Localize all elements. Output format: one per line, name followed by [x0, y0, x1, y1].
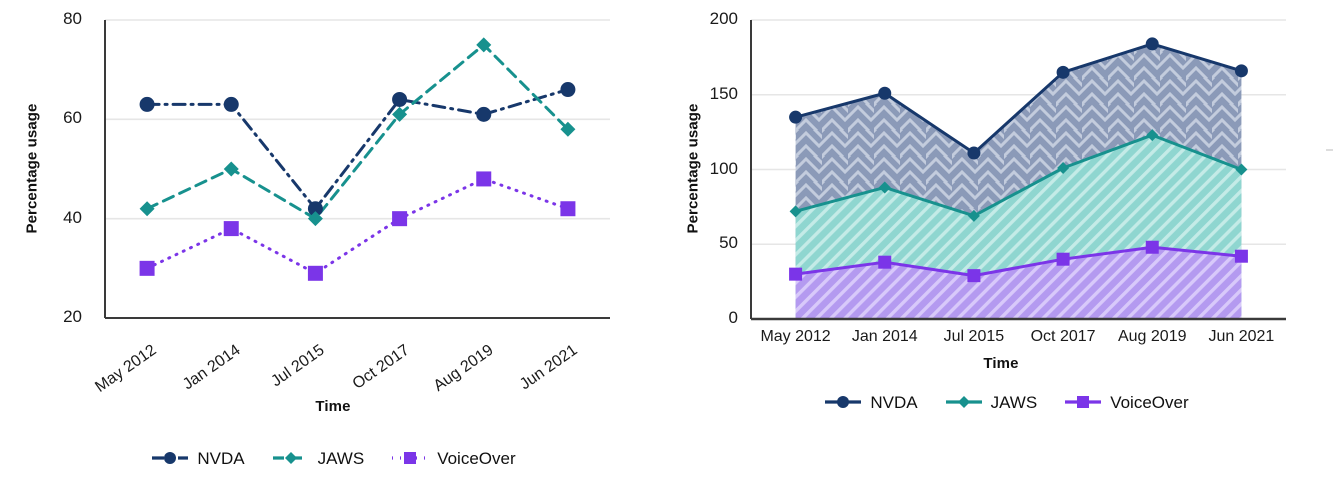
legend-label-nvda: NVDA [197, 450, 244, 467]
data-point-voiceover-2 [308, 266, 323, 281]
data-point-voiceover-1 [878, 256, 891, 269]
data-point-nvda-1 [224, 97, 239, 112]
legend-swatch-jaws [271, 448, 311, 468]
right-chart-canvas [666, 0, 1333, 486]
legend-item-jaws[interactable]: JAWS [944, 392, 1038, 412]
legend-swatch-nvda [823, 392, 863, 412]
data-point-voiceover-3 [1057, 253, 1070, 266]
data-point-nvda-0 [789, 111, 802, 124]
legend-label-voiceover: VoiceOver [437, 450, 515, 467]
data-point-voiceover-1 [224, 221, 239, 236]
left-legend: NVDAJAWSVoiceOver [0, 448, 666, 468]
right-x-tick-5: Jun 2021 [1191, 328, 1291, 346]
data-point-nvda-1 [878, 87, 891, 100]
legend-item-nvda[interactable]: NVDA [823, 392, 917, 412]
data-point-nvda-4 [1146, 37, 1159, 50]
legend-item-voiceover[interactable]: VoiceOver [1063, 392, 1188, 412]
legend-swatch-voiceover [1063, 392, 1103, 412]
left-y-tick-20: 20 [20, 307, 82, 327]
legend-item-voiceover[interactable]: VoiceOver [390, 448, 515, 468]
right-y-tick-200: 200 [666, 9, 738, 29]
data-point-nvda-0 [140, 97, 155, 112]
data-point-voiceover-3 [392, 211, 407, 226]
legend-item-jaws[interactable]: JAWS [271, 448, 365, 468]
legend-swatch-voiceover [390, 448, 430, 468]
left-y-tick-40: 40 [20, 208, 82, 228]
line-chart-panel: Percentage usage Time NVDAJAWSVoiceOver … [0, 0, 666, 486]
right-x-tick-0: May 2012 [746, 328, 846, 346]
data-point-voiceover-5 [560, 201, 575, 216]
circle-marker-icon [837, 396, 849, 408]
data-point-nvda-5 [560, 82, 575, 97]
data-point-nvda-3 [1057, 66, 1070, 79]
data-point-jaws-0 [140, 201, 155, 216]
data-point-voiceover-4 [1146, 241, 1159, 254]
data-point-nvda-5 [1235, 64, 1248, 77]
left-y-tick-80: 80 [20, 9, 82, 29]
right-y-tick-0: 0 [666, 308, 738, 328]
legend-label-nvda: NVDA [870, 394, 917, 411]
series-line-nvda [147, 90, 568, 209]
legend-swatch-nvda [150, 448, 190, 468]
circle-marker-icon [164, 452, 176, 464]
legend-item-nvda[interactable]: NVDA [150, 448, 244, 468]
legend-label-voiceover: VoiceOver [1110, 394, 1188, 411]
data-point-voiceover-2 [967, 269, 980, 282]
right-y-tick-50: 50 [666, 233, 738, 253]
left-y-axis-title: Percentage usage [24, 79, 41, 259]
data-point-nvda-3 [392, 92, 407, 107]
right-x-tick-3: Oct 2017 [1013, 328, 1113, 346]
series-line-jaws [147, 45, 568, 219]
legend-swatch-jaws [944, 392, 984, 412]
right-y-tick-150: 150 [666, 84, 738, 104]
data-point-voiceover-0 [789, 268, 802, 281]
data-point-voiceover-4 [476, 171, 491, 186]
dual-chart-figure: Percentage usage Time NVDAJAWSVoiceOver … [0, 0, 1333, 486]
data-point-jaws-1 [224, 162, 239, 177]
square-marker-icon [1077, 396, 1089, 408]
data-point-voiceover-5 [1235, 250, 1248, 263]
data-point-voiceover-0 [140, 261, 155, 276]
square-marker-icon [404, 452, 416, 464]
data-point-nvda-2 [967, 147, 980, 160]
series-line-voiceover [147, 179, 568, 273]
left-y-tick-60: 60 [20, 108, 82, 128]
right-legend: NVDAJAWSVoiceOver [746, 392, 1266, 412]
legend-label-jaws: JAWS [991, 394, 1038, 411]
right-x-axis-title: Time [751, 355, 1251, 372]
right-x-tick-4: Aug 2019 [1102, 328, 1202, 346]
right-x-tick-1: Jan 2014 [835, 328, 935, 346]
data-point-nvda-4 [476, 107, 491, 122]
right-y-tick-100: 100 [666, 159, 738, 179]
area-chart-panel: Percentage usage Time NVDAJAWSVoiceOver … [666, 0, 1333, 486]
legend-label-jaws: JAWS [318, 450, 365, 467]
diamond-marker-icon [958, 396, 970, 408]
right-x-tick-2: Jul 2015 [924, 328, 1024, 346]
diamond-marker-icon [285, 452, 297, 464]
